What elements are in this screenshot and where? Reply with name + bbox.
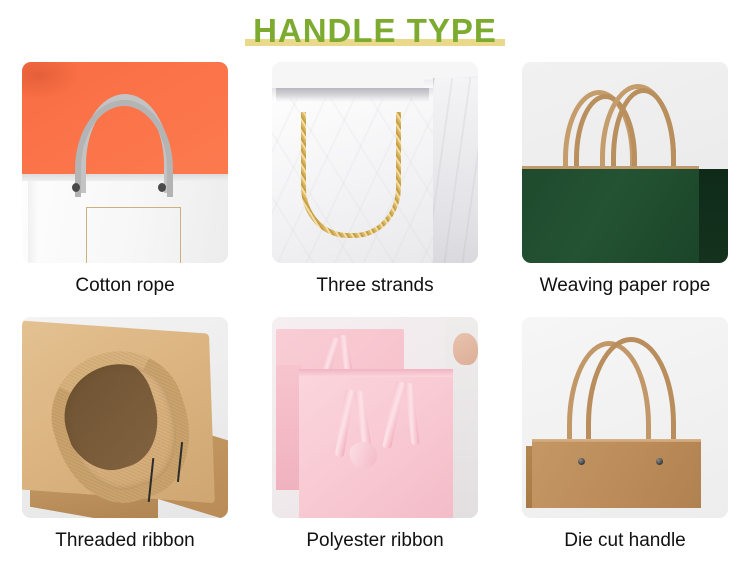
hand-blur — [453, 333, 478, 365]
grid-item-weaving-paper-rope[interactable]: Weaving paper rope — [500, 56, 750, 311]
grid-item-polyester-ribbon[interactable]: Polyester ribbon — [250, 311, 500, 566]
caption-polyester-ribbon: Polyester ribbon — [306, 530, 443, 552]
pink-bag-front-top-edge — [299, 369, 454, 377]
thumbnail-weaving-paper-rope[interactable] — [522, 62, 728, 263]
grid-item-cotton-rope[interactable]: Cotton rope — [0, 56, 250, 311]
caption-cotton-rope: Cotton rope — [75, 275, 174, 297]
green-bag-side — [699, 169, 728, 263]
kraft-bag-body — [532, 442, 701, 508]
gold-frame-detail — [86, 207, 181, 263]
caption-die-cut-handle: Die cut handle — [564, 530, 685, 552]
pink-bag-back-side — [276, 365, 301, 490]
page-title-text: HANDLE TYPE — [253, 12, 497, 50]
grid-item-die-cut-handle[interactable]: Die cut handle — [500, 311, 750, 566]
page-title: HANDLE TYPE — [0, 8, 750, 54]
thumbnail-threaded-ribbon[interactable] — [22, 317, 228, 518]
thumbnail-polyester-ribbon[interactable] — [272, 317, 478, 518]
grid-item-three-strands[interactable]: Three strands — [250, 56, 500, 311]
green-bag-body — [522, 169, 699, 263]
rope-end-cap-right — [158, 183, 166, 192]
handle-type-grid: Cotton rope Three strands Weaving paper … — [0, 56, 750, 566]
caption-three-strands: Three strands — [316, 275, 433, 297]
gold-three-strand-rope-handle — [301, 112, 402, 238]
grid-item-threaded-ribbon[interactable]: Threaded ribbon — [0, 311, 250, 566]
thumbnail-three-strands[interactable] — [272, 62, 478, 263]
thumbnail-die-cut-handle[interactable] — [522, 317, 728, 518]
caption-threaded-ribbon: Threaded ribbon — [55, 530, 194, 552]
thumbnail-cotton-rope[interactable] — [22, 62, 228, 263]
bag-inner-shadow — [276, 88, 428, 102]
marble-bag-side — [433, 78, 478, 263]
rivet-right — [656, 458, 663, 465]
rivet-left — [578, 458, 585, 465]
caption-weaving-paper-rope: Weaving paper rope — [540, 275, 711, 297]
pink-bag-front — [299, 369, 454, 518]
